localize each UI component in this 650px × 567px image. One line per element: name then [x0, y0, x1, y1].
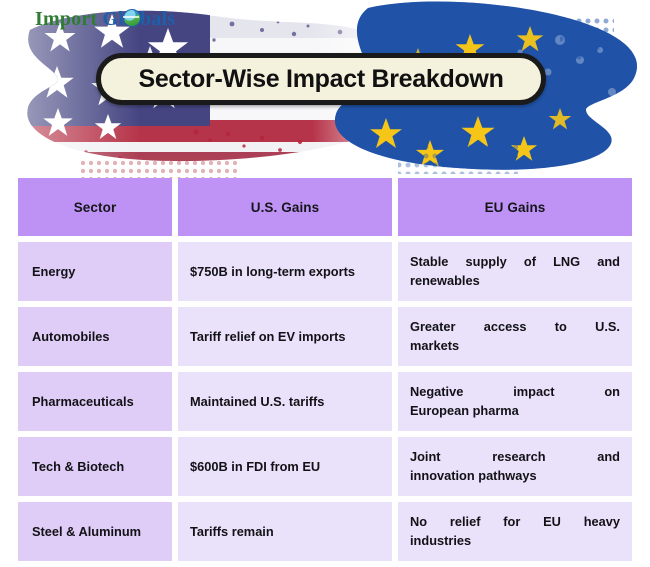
- table-row: Automobiles Tariff relief on EV imports …: [18, 307, 632, 366]
- sector-impact-table: Sector U.S. Gains EU Gains Energy $750B …: [18, 178, 632, 567]
- column-header-eu-gains: EU Gains: [398, 178, 632, 236]
- cell-sector: Pharmaceuticals: [18, 372, 172, 431]
- cell-sector: Energy: [18, 242, 172, 301]
- cell-sector: Automobiles: [18, 307, 172, 366]
- table-header-row: Sector U.S. Gains EU Gains: [18, 178, 632, 236]
- cell-us-gains: Tariff relief on EV imports: [178, 307, 392, 366]
- column-header-us-gains: U.S. Gains: [178, 178, 392, 236]
- table-row: Tech & Biotech $600B in FDI from EU Join…: [18, 437, 632, 496]
- cell-eu-gains: Negative impact on European pharma: [398, 372, 632, 431]
- cell-eu-gains: Stable supply of LNG and renewables: [398, 242, 632, 301]
- cell-us-gains: $750B in long-term exports: [178, 242, 392, 301]
- table-row: Steel & Aluminum Tariffs remain No relie…: [18, 502, 632, 561]
- cell-us-gains: Tariffs remain: [178, 502, 392, 561]
- logo-text-import: Import: [35, 8, 97, 30]
- column-header-sector: Sector: [18, 178, 172, 236]
- brand-logo[interactable]: Import Glbals: [35, 9, 175, 29]
- logo-text-gl: Gl: [103, 8, 125, 30]
- cell-eu-gains: Greater access to U.S. markets: [398, 307, 632, 366]
- cell-us-gains: $600B in FDI from EU: [178, 437, 392, 496]
- cell-eu-gains: Joint research and innovation pathways: [398, 437, 632, 496]
- logo-text-bals: bals: [140, 8, 175, 30]
- cell-eu-gains: No relief for EU heavy industries: [398, 502, 632, 561]
- page-title: Sector-Wise Impact Breakdown: [138, 65, 503, 94]
- cell-sector: Tech & Biotech: [18, 437, 172, 496]
- table-row: Pharmaceuticals Maintained U.S. tariffs …: [18, 372, 632, 431]
- cell-us-gains: Maintained U.S. tariffs: [178, 372, 392, 431]
- cell-sector: Steel & Aluminum: [18, 502, 172, 561]
- hero-banner: Import Glbals Sector-Wise Impact Breakdo…: [0, 0, 650, 178]
- globe-icon: [123, 9, 141, 27]
- page-title-banner: Sector-Wise Impact Breakdown: [96, 53, 546, 105]
- table-row: Energy $750B in long-term exports Stable…: [18, 242, 632, 301]
